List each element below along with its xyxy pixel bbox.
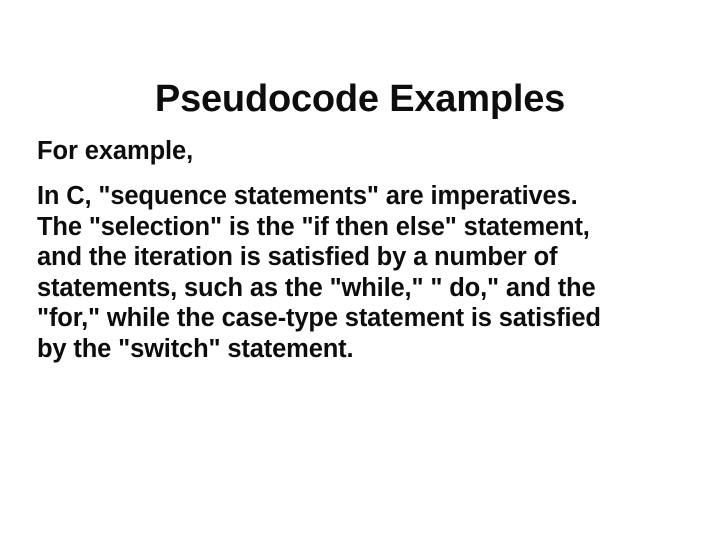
body-line: "for," while the case-type statement is … — [37, 303, 685, 334]
body-line: The "selection" is the "if then else" st… — [37, 212, 685, 243]
slide-title: Pseudocode Examples — [0, 77, 720, 121]
body-paragraph: In C, "sequence statements" are imperati… — [37, 181, 685, 364]
body-line: In C, "sequence statements" are imperati… — [37, 181, 685, 212]
slide-body-content: For example, In C, "sequence statements"… — [37, 136, 685, 364]
presentation-slide: Pseudocode Examples For example, In C, "… — [0, 0, 720, 540]
body-line: and the iteration is satisfied by a numb… — [37, 242, 685, 273]
body-line: statements, such as the "while," " do," … — [37, 273, 685, 304]
body-lead-text: For example, — [37, 136, 685, 167]
body-line: by the "switch" statement. — [37, 334, 685, 365]
